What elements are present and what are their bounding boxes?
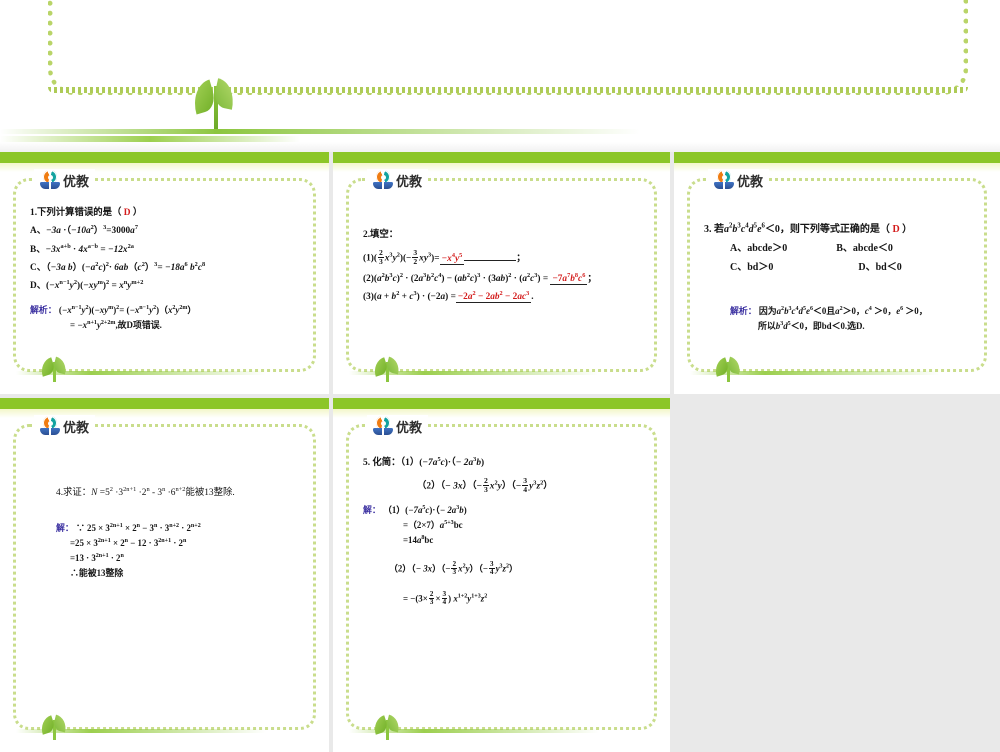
slide-top-bar (0, 398, 329, 409)
slide-grid: 优教 1.下列计算错误的是（ D ） A、−3a ·（−10a2）3=3000a… (0, 152, 1000, 600)
fill-answer-1: −x4y5 (440, 254, 465, 265)
solution-line-3: =14a8bc (363, 536, 642, 545)
option-a: A、−3a ·（−10a2）3=3000a7 (30, 227, 301, 236)
slide-top-bar (674, 152, 1000, 163)
slide-top-bar (333, 152, 670, 163)
slide-card: 优教 1.下列计算错误的是（ D ） A、−3a ·（−10a2）3=3000a… (13, 178, 316, 372)
sprout-icon (712, 357, 746, 383)
slide-body: 4.求证：N =52 ·32n+1 ·2n - 3n ·6n+2能被13整除. … (16, 427, 313, 727)
slide-body: 2.填空： (1)(23x3y2)(−32xy3)=−x4y5； (2)(a2b… (349, 181, 654, 369)
solution-line-2: 所以b3d5＜0，即bd＜0.选D. (704, 322, 972, 331)
fill-item-2: (2)(a2b3c)2 · (2a3b2c4) − (ab2c)3 · (3ab… (363, 275, 642, 284)
solution-label: 解： (56, 523, 74, 533)
solution-line-2: = −xn+1y2+2m,故D项错误. (30, 321, 301, 330)
question-text-line2: （2）（− 3x）（−23x2y）（−34y3z2） (363, 477, 642, 494)
sprout-icon (371, 357, 405, 383)
slide-card: 优教 4.求证：N =52 ·32n+1 ·2n - 3n ·6n+2能被13整… (13, 424, 316, 730)
fill-blank-title: 2.填空： (363, 231, 642, 240)
option-d: D、(−xn−1y2)(−xym)2 = xnym+2 (30, 282, 301, 291)
option-row-ab: A、abcde＞0 B、abcde＜0 (704, 244, 972, 254)
solution-line-1: 解析： 因为a2b3c4d5e6＜0且a2＞0，c4 ＞0，e6 ＞0， (704, 307, 972, 316)
solution-line-5: = −(3×23×34) x1+2y1+3z2 (363, 591, 642, 607)
answer-mark: D (892, 224, 899, 235)
fill-item-1: (1)(23x3y2)(−32xy3)=−x4y5； (363, 249, 642, 266)
solution-label: 解： (363, 505, 381, 515)
slide-top-bar (333, 398, 670, 409)
slide-panel-1[interactable]: 优教 1.下列计算错误的是（ D ） A、−3a ·（−10a2）3=3000a… (0, 152, 329, 394)
solution-block: 解： （1）(−7a5c)·（− 2a3b) =（2×7）a5+3bc =14a… (363, 506, 642, 606)
option-c: C、bd＞0 (730, 262, 773, 273)
sprout-icon (38, 715, 72, 741)
slide-panel-3[interactable]: 优教 3. 若a2b3c4d5e6＜0，则下列等式正确的是（ D ） A、abc… (674, 152, 1000, 394)
solution-line-2: =（2×7）a5+3bc (363, 521, 642, 530)
solution-line-3: =13 · 32n+1 · 2n (30, 554, 301, 563)
solution-block: 解： ∵ 25 × 32n+1 × 2n − 3n · 3n+2 · 2n+2 … (30, 524, 301, 578)
solution-line-1: 解： （1）(−7a5c)·（− 2a3b) (363, 506, 642, 515)
solution-line-1: 解析： (−xn−1y2)(−xym)2= (−xn−1y2)（x2y2m） (30, 306, 301, 315)
slide-body: 5. 化简：（1）(−7a5c)·（− 2a3b) （2）（− 3x）（−23x… (349, 427, 654, 727)
answer-mark: D (124, 208, 131, 218)
question-text: 3. 若a2b3c4d5e6＜0，则下列等式正确的是（ D ） (704, 225, 972, 235)
slide-panel-4[interactable]: 优教 4.求证：N =52 ·32n+1 ·2n - 3n ·6n+2能被13整… (0, 398, 329, 752)
slide-body: 1.下列计算错误的是（ D ） A、−3a ·（−10a2）3=3000a7 B… (16, 181, 313, 369)
slide-top-bar (0, 152, 329, 163)
fill-answer-2: −7a7b8c6 (550, 274, 587, 285)
fill-item-3: (3)(a + b2 + c3) · (−2a) =−2a2 − 2ab2 − … (363, 293, 642, 302)
option-b: B、−3xa+b · 4xa−b = −12x2a (30, 246, 301, 255)
presentation-screenshot: { "brand": { "logo_text": "优教", "logo_ic… (0, 0, 1000, 600)
solution-label: 解析： (730, 306, 757, 316)
sprout-icon (371, 715, 405, 741)
banner-slide (0, 0, 1000, 152)
slide-panel-5[interactable]: 优教 5. 化简：（1）(−7a5c)·（− 2a3b) （2）（− 3x）（−… (333, 398, 670, 752)
fill-answer-3: −2a2 − 2ab2 − 2ac3 (456, 292, 531, 303)
slide-panel-2[interactable]: 优教 2.填空： (1)(23x3y2)(−32xy3)=−x4y5； (2)(… (333, 152, 670, 394)
question-text: 1.下列计算错误的是（ D ） (30, 209, 301, 218)
option-c: C、（−3a b）(−a2c)2· 6ab（c2）3= −18a6 b2c8 (30, 264, 301, 273)
solution-line-2: =25 × 32n+1 × 2n − 12 · 32n+1 · 2n (30, 539, 301, 548)
solution-line-1: 解： ∵ 25 × 32n+1 × 2n − 3n · 3n+2 · 2n+2 (30, 524, 301, 533)
empty-slide-cell (674, 398, 1000, 752)
question-text: 4.求证：N =52 ·32n+1 ·2n - 3n ·6n+2能被13整除. (30, 489, 301, 498)
ground-line (0, 129, 640, 134)
slide-card: 优教 3. 若a2b3c4d5e6＜0，则下列等式正确的是（ D ） A、abc… (687, 178, 987, 372)
banner-shadow (0, 142, 1000, 152)
solution-block: 解析： (−xn−1y2)(−xym)2= (−xn−1y2)（x2y2m） =… (30, 306, 301, 330)
option-d: D、bd＜0 (858, 262, 901, 273)
question-text: 5. 化简：（1）(−7a5c)·（− 2a3b) (363, 459, 642, 468)
solution-block: 解析： 因为a2b3c4d5e6＜0且a2＞0，c4 ＞0，e6 ＞0， 所以b… (704, 307, 972, 331)
slide-card: 优教 2.填空： (1)(23x3y2)(−32xy3)=−x4y5； (2)(… (346, 178, 657, 372)
banner-dotted-frame (48, 0, 968, 95)
sprout-icon (38, 357, 72, 383)
solution-label: 解析： (30, 305, 57, 315)
option-b: B、abcde＜0 (836, 243, 893, 254)
slide-card: 优教 5. 化简：（1）(−7a5c)·（− 2a3b) （2）（− 3x）（−… (346, 424, 657, 730)
option-a: A、abcde＞0 (730, 243, 787, 254)
solution-line-4: （2）（− 3x）（−23x2y）（−34y3z2） (363, 561, 642, 577)
solution-line-4: ∴能被13整除 (30, 569, 301, 578)
option-row-cd: C、bd＞0 D、bd＜0 (704, 263, 972, 273)
slide-body: 3. 若a2b3c4d5e6＜0，则下列等式正确的是（ D ） A、abcde＞… (690, 181, 984, 369)
